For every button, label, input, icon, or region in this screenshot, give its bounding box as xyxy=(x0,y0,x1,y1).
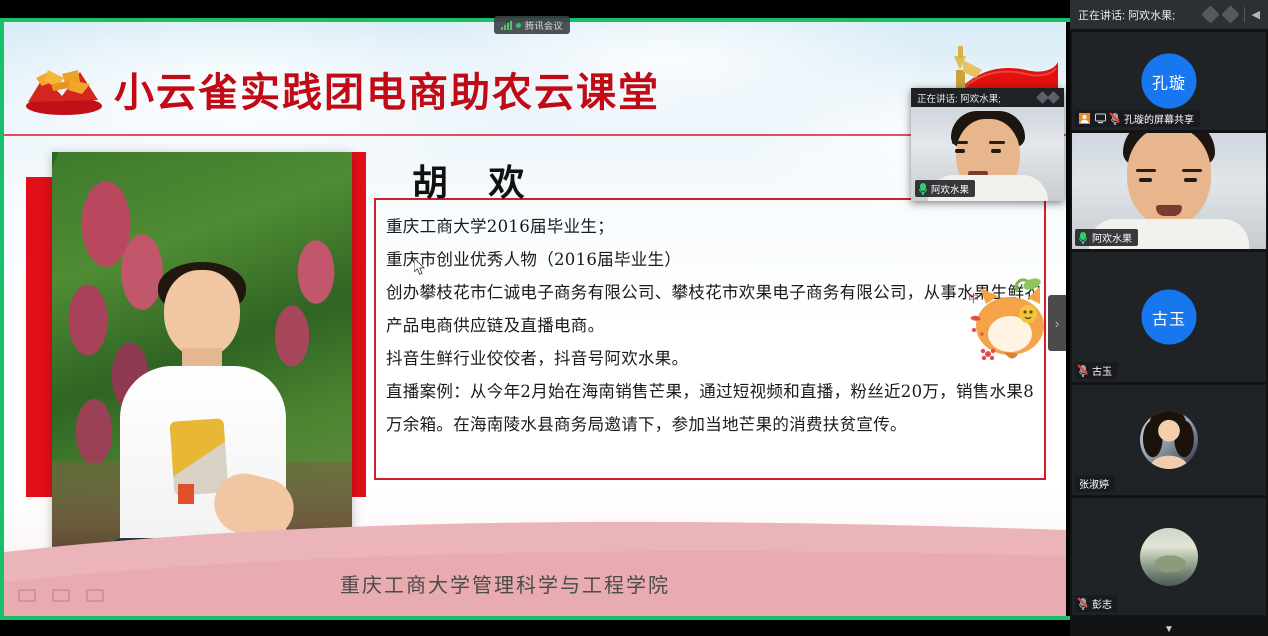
speaker-photo xyxy=(52,152,352,552)
bio-line: 重庆工商大学2016届毕业生； xyxy=(386,210,1046,243)
floating-video-stream: 阿欢水果 xyxy=(911,107,1064,201)
party-emblem-icon xyxy=(18,66,106,116)
participant-tile-guyu[interactable]: 古玉 古玉 xyxy=(1072,252,1266,382)
participant-name: 彭志 xyxy=(1092,596,1112,611)
screen-share-icon xyxy=(1095,113,1106,124)
floating-video-window[interactable]: 正在讲话: 阿欢水果; 阿欢水果 xyxy=(911,88,1064,201)
mouse-cursor xyxy=(414,258,426,276)
meeting-screen: 小云雀实践团电商助农云课堂 xyxy=(0,0,1268,636)
toolbar-divider xyxy=(1244,7,1245,22)
shared-screen-area: 小云雀实践团电商助农云课堂 xyxy=(0,0,1070,636)
participant-tile-ahuanshuiguo[interactable]: 阿欢水果 xyxy=(1072,133,1266,249)
share-panel-collapse-button[interactable]: › xyxy=(1048,295,1066,351)
avatar xyxy=(1140,528,1198,586)
participant-tile-kongxuan[interactable]: 孔璇 孔璇的屏幕共享 xyxy=(1072,32,1266,130)
rail-scroll-down-button[interactable]: ▼ xyxy=(1070,622,1268,636)
floating-video-name: 阿欢水果 xyxy=(931,182,969,196)
speaker-name: 胡 欢 xyxy=(412,154,539,206)
participant-nametag: 古玉 xyxy=(1075,362,1118,379)
person-icon xyxy=(1079,113,1090,124)
mic-muted-icon xyxy=(1111,113,1119,125)
ppt-sorter-view-icon[interactable] xyxy=(52,589,70,602)
drag-handle-icon[interactable] xyxy=(1038,93,1058,102)
floating-video-titlebar[interactable]: 正在讲话: 阿欢水果; xyxy=(911,88,1064,107)
avatar: 古玉 xyxy=(1142,290,1197,345)
bio-line: 创办攀枝花市仁诚电子商务有限公司、攀枝花市欢果电子商务有限公司，从事水果生鲜农产… xyxy=(386,276,1046,342)
participant-nametag: 彭志 xyxy=(1075,595,1118,612)
participant-nametag: 阿欢水果 xyxy=(1075,229,1138,246)
signal-bars-icon xyxy=(501,21,512,30)
participant-name: 古玉 xyxy=(1092,363,1112,378)
drag-handle-icon[interactable] xyxy=(1201,5,1219,23)
drag-handle-icon[interactable] xyxy=(1221,5,1239,23)
chevron-down-icon: ▼ xyxy=(1164,624,1174,635)
avatar: 孔璇 xyxy=(1142,54,1197,109)
status-dot-icon xyxy=(516,23,521,28)
orange-cat-mascot-icon: 中 xyxy=(966,268,1052,376)
floating-speaking-label: 正在讲话: 阿欢水果; xyxy=(917,91,1001,105)
bio-line: 重庆市创业优秀人物（2016届毕业生） xyxy=(386,243,1046,276)
speaking-status-label: 正在讲话: 阿欢水果; xyxy=(1078,7,1175,23)
chevron-left-icon[interactable]: ◀ xyxy=(1252,8,1260,21)
participant-name: 孔璇的屏幕共享 xyxy=(1124,111,1194,126)
slide-title: 小云雀实践团电商助农云课堂 xyxy=(114,60,660,118)
participant-name: 阿欢水果 xyxy=(1092,230,1132,245)
app-badge-label: 腾讯会议 xyxy=(525,19,563,32)
ppt-normal-view-icon[interactable] xyxy=(18,589,36,602)
speaking-status-bar: 正在讲话: 阿欢水果; ◀ xyxy=(1070,0,1268,29)
floating-video-nametag: 阿欢水果 xyxy=(915,180,975,197)
ppt-view-controls[interactable] xyxy=(18,589,104,602)
mic-muted-icon xyxy=(1079,598,1087,610)
share-border-left xyxy=(0,18,4,620)
share-border-bottom xyxy=(0,616,1070,620)
slide-footer: 重庆工商大学管理科学与工程学院 xyxy=(4,569,1066,598)
bio-line: 抖音生鲜行业佼佼者，抖音号阿欢水果。 xyxy=(386,342,1046,375)
mic-unmuted-icon xyxy=(919,183,927,195)
participant-rail: 正在讲话: 阿欢水果; ◀ 孔璇 孔璇的屏幕共享 xyxy=(1070,0,1268,636)
slide-header-rule xyxy=(4,134,1066,136)
participant-nametag: 孔璇的屏幕共享 xyxy=(1075,110,1200,127)
mic-unmuted-icon xyxy=(1079,232,1087,244)
participant-name: 张淑婷 xyxy=(1079,476,1109,491)
avatar xyxy=(1140,411,1198,469)
chevron-right-icon: › xyxy=(1055,316,1059,331)
tencent-meeting-badge[interactable]: 腾讯会议 xyxy=(494,16,570,34)
participant-tile-zhangshuting[interactable]: 张淑婷 xyxy=(1072,385,1266,495)
svg-text:中: 中 xyxy=(968,292,979,305)
footer-wave xyxy=(4,496,1066,616)
ppt-reading-view-icon[interactable] xyxy=(86,589,104,602)
mic-muted-icon xyxy=(1079,365,1087,377)
participant-nametag: 张淑婷 xyxy=(1075,475,1115,492)
bio-line: 直播案例：从今年2月始在海南销售芒果，通过短视频和直播，粉丝近20万，销售水果8… xyxy=(386,375,1046,441)
participant-tile-pengzhi[interactable]: 彭志 xyxy=(1072,498,1266,615)
speaker-bio: 重庆工商大学2016届毕业生； 重庆市创业优秀人物（2016届毕业生） 创办攀枝… xyxy=(386,210,1046,441)
presentation-slide[interactable]: 小云雀实践团电商助农云课堂 xyxy=(4,22,1066,616)
